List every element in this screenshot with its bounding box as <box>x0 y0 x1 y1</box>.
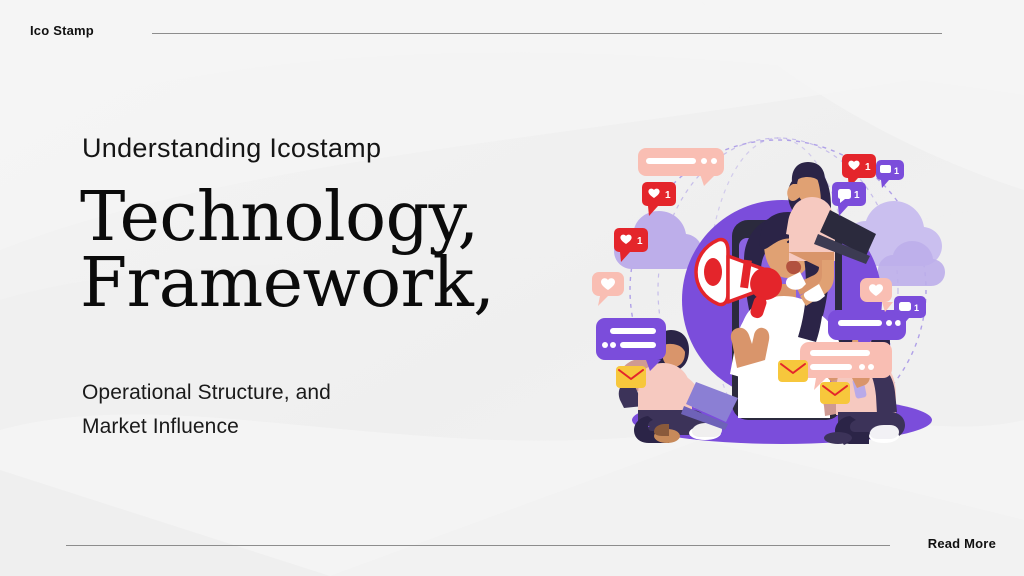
heart-badge: 1 <box>642 182 676 216</box>
brand-logo[interactable]: Ico Stamp <box>30 23 94 38</box>
headline-line-1: Technology, <box>80 185 494 251</box>
svg-text:1: 1 <box>854 190 860 201</box>
header-divider <box>152 33 942 34</box>
svg-text:1: 1 <box>894 166 899 176</box>
subhead-line-1: Operational Structure, and <box>82 376 331 410</box>
hero-eyebrow: Understanding Icostamp <box>82 133 381 164</box>
comment-badge: 1 <box>832 182 866 216</box>
chat-bubble-pink <box>638 148 724 186</box>
footer-divider <box>66 545 890 546</box>
read-more-link[interactable]: Read More <box>928 536 996 551</box>
subhead-line-2: Market Influence <box>82 410 331 444</box>
headline-line-2: Framework, <box>80 251 494 317</box>
social-media-illustration: 1 1 1 1 1 <box>592 120 964 460</box>
chat-bubble-pink-small <box>592 272 624 306</box>
hero-subheadline: Operational Structure, and Market Influe… <box>82 376 331 444</box>
svg-text:1: 1 <box>865 162 871 173</box>
envelope-icon <box>778 360 808 382</box>
slide-canvas: Ico Stamp Understanding Icostamp Technol… <box>0 0 1024 576</box>
svg-text:1: 1 <box>665 190 671 201</box>
hero-headline: Technology, Framework, <box>80 185 494 317</box>
comment-badge: 1 <box>876 160 904 188</box>
svg-text:1: 1 <box>637 236 643 247</box>
svg-text:1: 1 <box>914 303 919 313</box>
envelope-icon <box>616 366 646 388</box>
envelope-icon <box>820 382 850 404</box>
